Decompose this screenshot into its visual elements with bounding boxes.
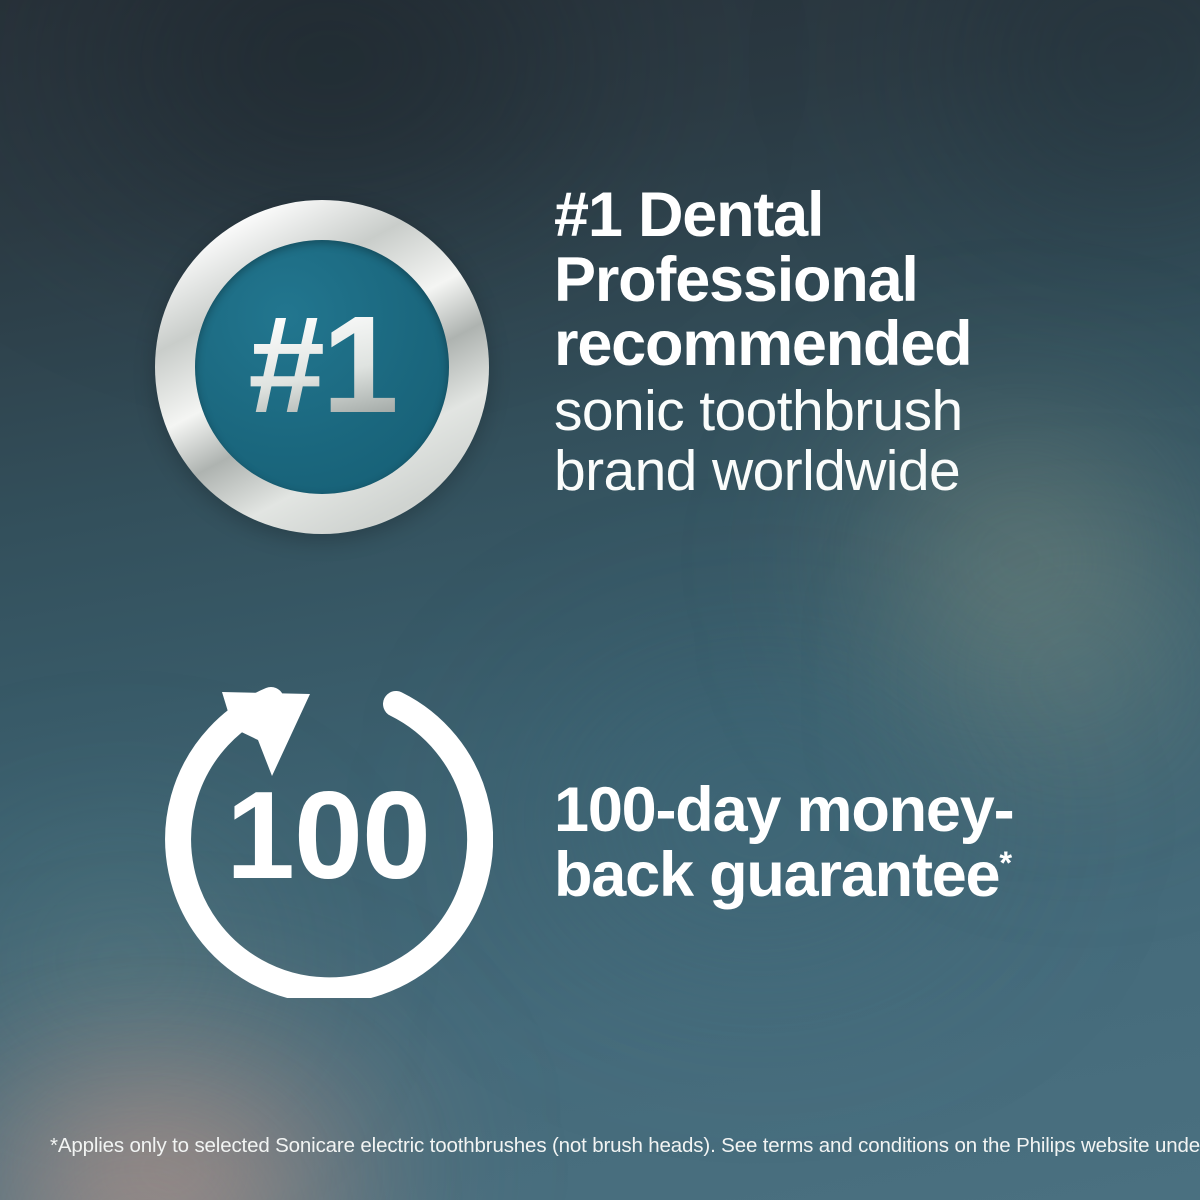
claim-one-subline: sonic toothbrush brand worldwide <box>554 381 1114 502</box>
medallion-number-label: #1 <box>155 200 489 534</box>
claim-money-back-guarantee: 100-day money- back guarantee* <box>554 778 1134 907</box>
circular-arrow-100-icon: 100 <box>163 668 493 998</box>
hundred-number-label: 100 <box>163 668 493 998</box>
promo-canvas: #1 #1 Dental Professional recommended so… <box>0 0 1200 1200</box>
claim-two-headline: 100-day money- back guarantee* <box>554 778 1134 907</box>
number-one-medallion-icon: #1 <box>155 200 489 534</box>
claim-two-headline-text: 100-day money- back guarantee <box>554 775 1013 910</box>
footnote-marker: * <box>999 844 1011 881</box>
claim-one-headline: #1 Dental Professional recommended <box>554 183 1114 377</box>
claim-dental-professional: #1 Dental Professional recommended sonic… <box>554 183 1114 502</box>
legal-footnote: *Applies only to selected Sonicare elect… <box>50 1133 1160 1159</box>
